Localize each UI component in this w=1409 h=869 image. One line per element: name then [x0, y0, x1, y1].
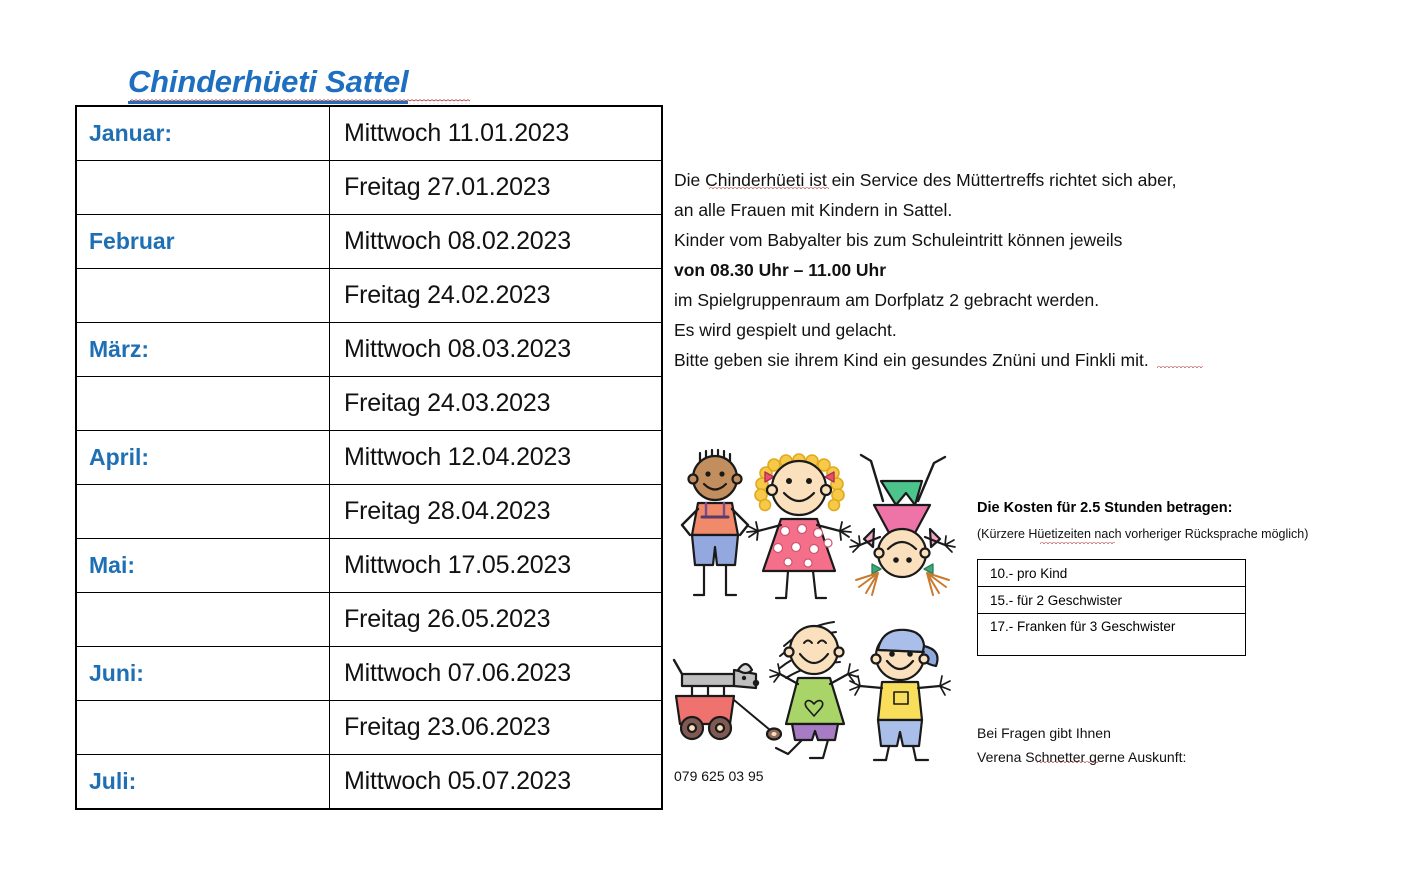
costs-table: 10.- pro Kind 15.- für 2 Geschwister 17.…	[977, 559, 1246, 656]
table-row: Freitag 24.02.2023	[77, 269, 662, 323]
month-label	[77, 269, 330, 323]
clipart-girl-green	[770, 622, 858, 758]
date-value: Mittwoch 08.02.2023	[330, 215, 662, 269]
table-row: 10.- pro Kind	[978, 560, 1246, 587]
table-row: Juli: Mittwoch 05.07.2023	[77, 755, 662, 809]
table-row: Freitag 26.05.2023	[77, 593, 662, 647]
table-row: Juni: Mittwoch 07.06.2023	[77, 647, 662, 701]
date-value: Freitag 23.06.2023	[330, 701, 662, 755]
clipart-girl-handstand	[850, 455, 955, 595]
month-label: Juni:	[77, 647, 330, 701]
date-value: Mittwoch 08.03.2023	[330, 323, 662, 377]
month-label: Juli:	[77, 755, 330, 809]
costs-subnote: (Kürzere Hüetizeiten nach vorheriger Rüc…	[977, 527, 1308, 541]
month-label	[77, 161, 330, 215]
description-hours: von 08.30 Uhr – 11.00 Uhr	[674, 255, 1294, 285]
spellcheck-squiggle-finkli	[1157, 365, 1203, 370]
table-row: April: Mittwoch 12.04.2023	[77, 431, 662, 485]
clipart-boy-orange	[682, 450, 748, 595]
table-row: März: Mittwoch 08.03.2023	[77, 323, 662, 377]
clipart-boy-yellow	[850, 630, 950, 760]
month-label	[77, 593, 330, 647]
description-line-3: Kinder vom Babyalter bis zum Schuleintri…	[674, 225, 1294, 255]
table-row: Freitag 24.03.2023	[77, 377, 662, 431]
table-row: 17.- Franken für 3 Geschwister	[978, 614, 1246, 656]
description-line-6: Es wird gespielt und gelacht.	[674, 315, 1294, 345]
date-value: Freitag 24.02.2023	[330, 269, 662, 323]
month-label: März:	[77, 323, 330, 377]
month-label	[77, 377, 330, 431]
costs-heading: Die Kosten für 2.5 Stunden betragen:	[977, 500, 1307, 516]
spellcheck-squiggle-schnetter	[1037, 760, 1099, 765]
month-label: Februar	[77, 215, 330, 269]
contact-line-2: Verena Schnetter gerne Auskunft:	[977, 745, 1186, 769]
month-label	[77, 485, 330, 539]
cost-row-1: 10.- pro Kind	[978, 560, 1246, 587]
costs-section: Die Kosten für 2.5 Stunden betragen: (Kü…	[977, 500, 1307, 656]
description-line-5: im Spielgruppenraum am Dorfplatz 2 gebra…	[674, 285, 1294, 315]
table-row: Freitag 27.01.2023	[77, 161, 662, 215]
date-value: Freitag 27.01.2023	[330, 161, 662, 215]
clipart-children-group-top	[668, 443, 958, 608]
table-row: Freitag 28.04.2023	[77, 485, 662, 539]
date-value: Freitag 26.05.2023	[330, 593, 662, 647]
month-label	[77, 701, 330, 755]
spellcheck-squiggle-huetizeiten	[1040, 541, 1115, 546]
schedule-table-body: Januar: Mittwoch 11.01.2023 Freitag 27.0…	[77, 107, 662, 809]
clipart-girl-polkadot	[747, 454, 851, 598]
date-value: Mittwoch 05.07.2023	[330, 755, 662, 809]
clipart-children-group-bottom	[668, 612, 958, 767]
month-label: Januar:	[77, 107, 330, 161]
clipart-dog-wagon	[674, 660, 781, 740]
date-value: Freitag 28.04.2023	[330, 485, 662, 539]
month-label: Mai:	[77, 539, 330, 593]
schedule-table: Januar: Mittwoch 11.01.2023 Freitag 27.0…	[76, 106, 662, 809]
cost-row-3: 17.- Franken für 3 Geschwister	[978, 614, 1246, 656]
costs-table-body: 10.- pro Kind 15.- für 2 Geschwister 17.…	[978, 560, 1246, 656]
description-text: Die Chinderhüeti ist ein Service des Müt…	[674, 165, 1294, 375]
date-value: Mittwoch 12.04.2023	[330, 431, 662, 485]
month-label: April:	[77, 431, 330, 485]
table-row: Februar Mittwoch 08.02.2023	[77, 215, 662, 269]
contact-line-1: Bei Fragen gibt Ihnen	[977, 721, 1186, 745]
phone-number: 079 625 03 95	[674, 768, 764, 784]
table-row: 15.- für 2 Geschwister	[978, 587, 1246, 614]
spellcheck-squiggle-title	[130, 98, 470, 104]
table-row: Januar: Mittwoch 11.01.2023	[77, 107, 662, 161]
date-value: Freitag 24.03.2023	[330, 377, 662, 431]
table-row: Freitag 23.06.2023	[77, 701, 662, 755]
date-value: Mittwoch 11.01.2023	[330, 107, 662, 161]
date-value: Mittwoch 17.05.2023	[330, 539, 662, 593]
description-line-7: Bitte geben sie ihrem Kind ein gesundes …	[674, 345, 1294, 375]
description-line-2: an alle Frauen mit Kindern in Sattel.	[674, 195, 1294, 225]
table-row: Mai: Mittwoch 17.05.2023	[77, 539, 662, 593]
cost-row-2: 15.- für 2 Geschwister	[978, 587, 1246, 614]
date-value: Mittwoch 07.06.2023	[330, 647, 662, 701]
spellcheck-squiggle-chinderhueti	[709, 186, 829, 191]
